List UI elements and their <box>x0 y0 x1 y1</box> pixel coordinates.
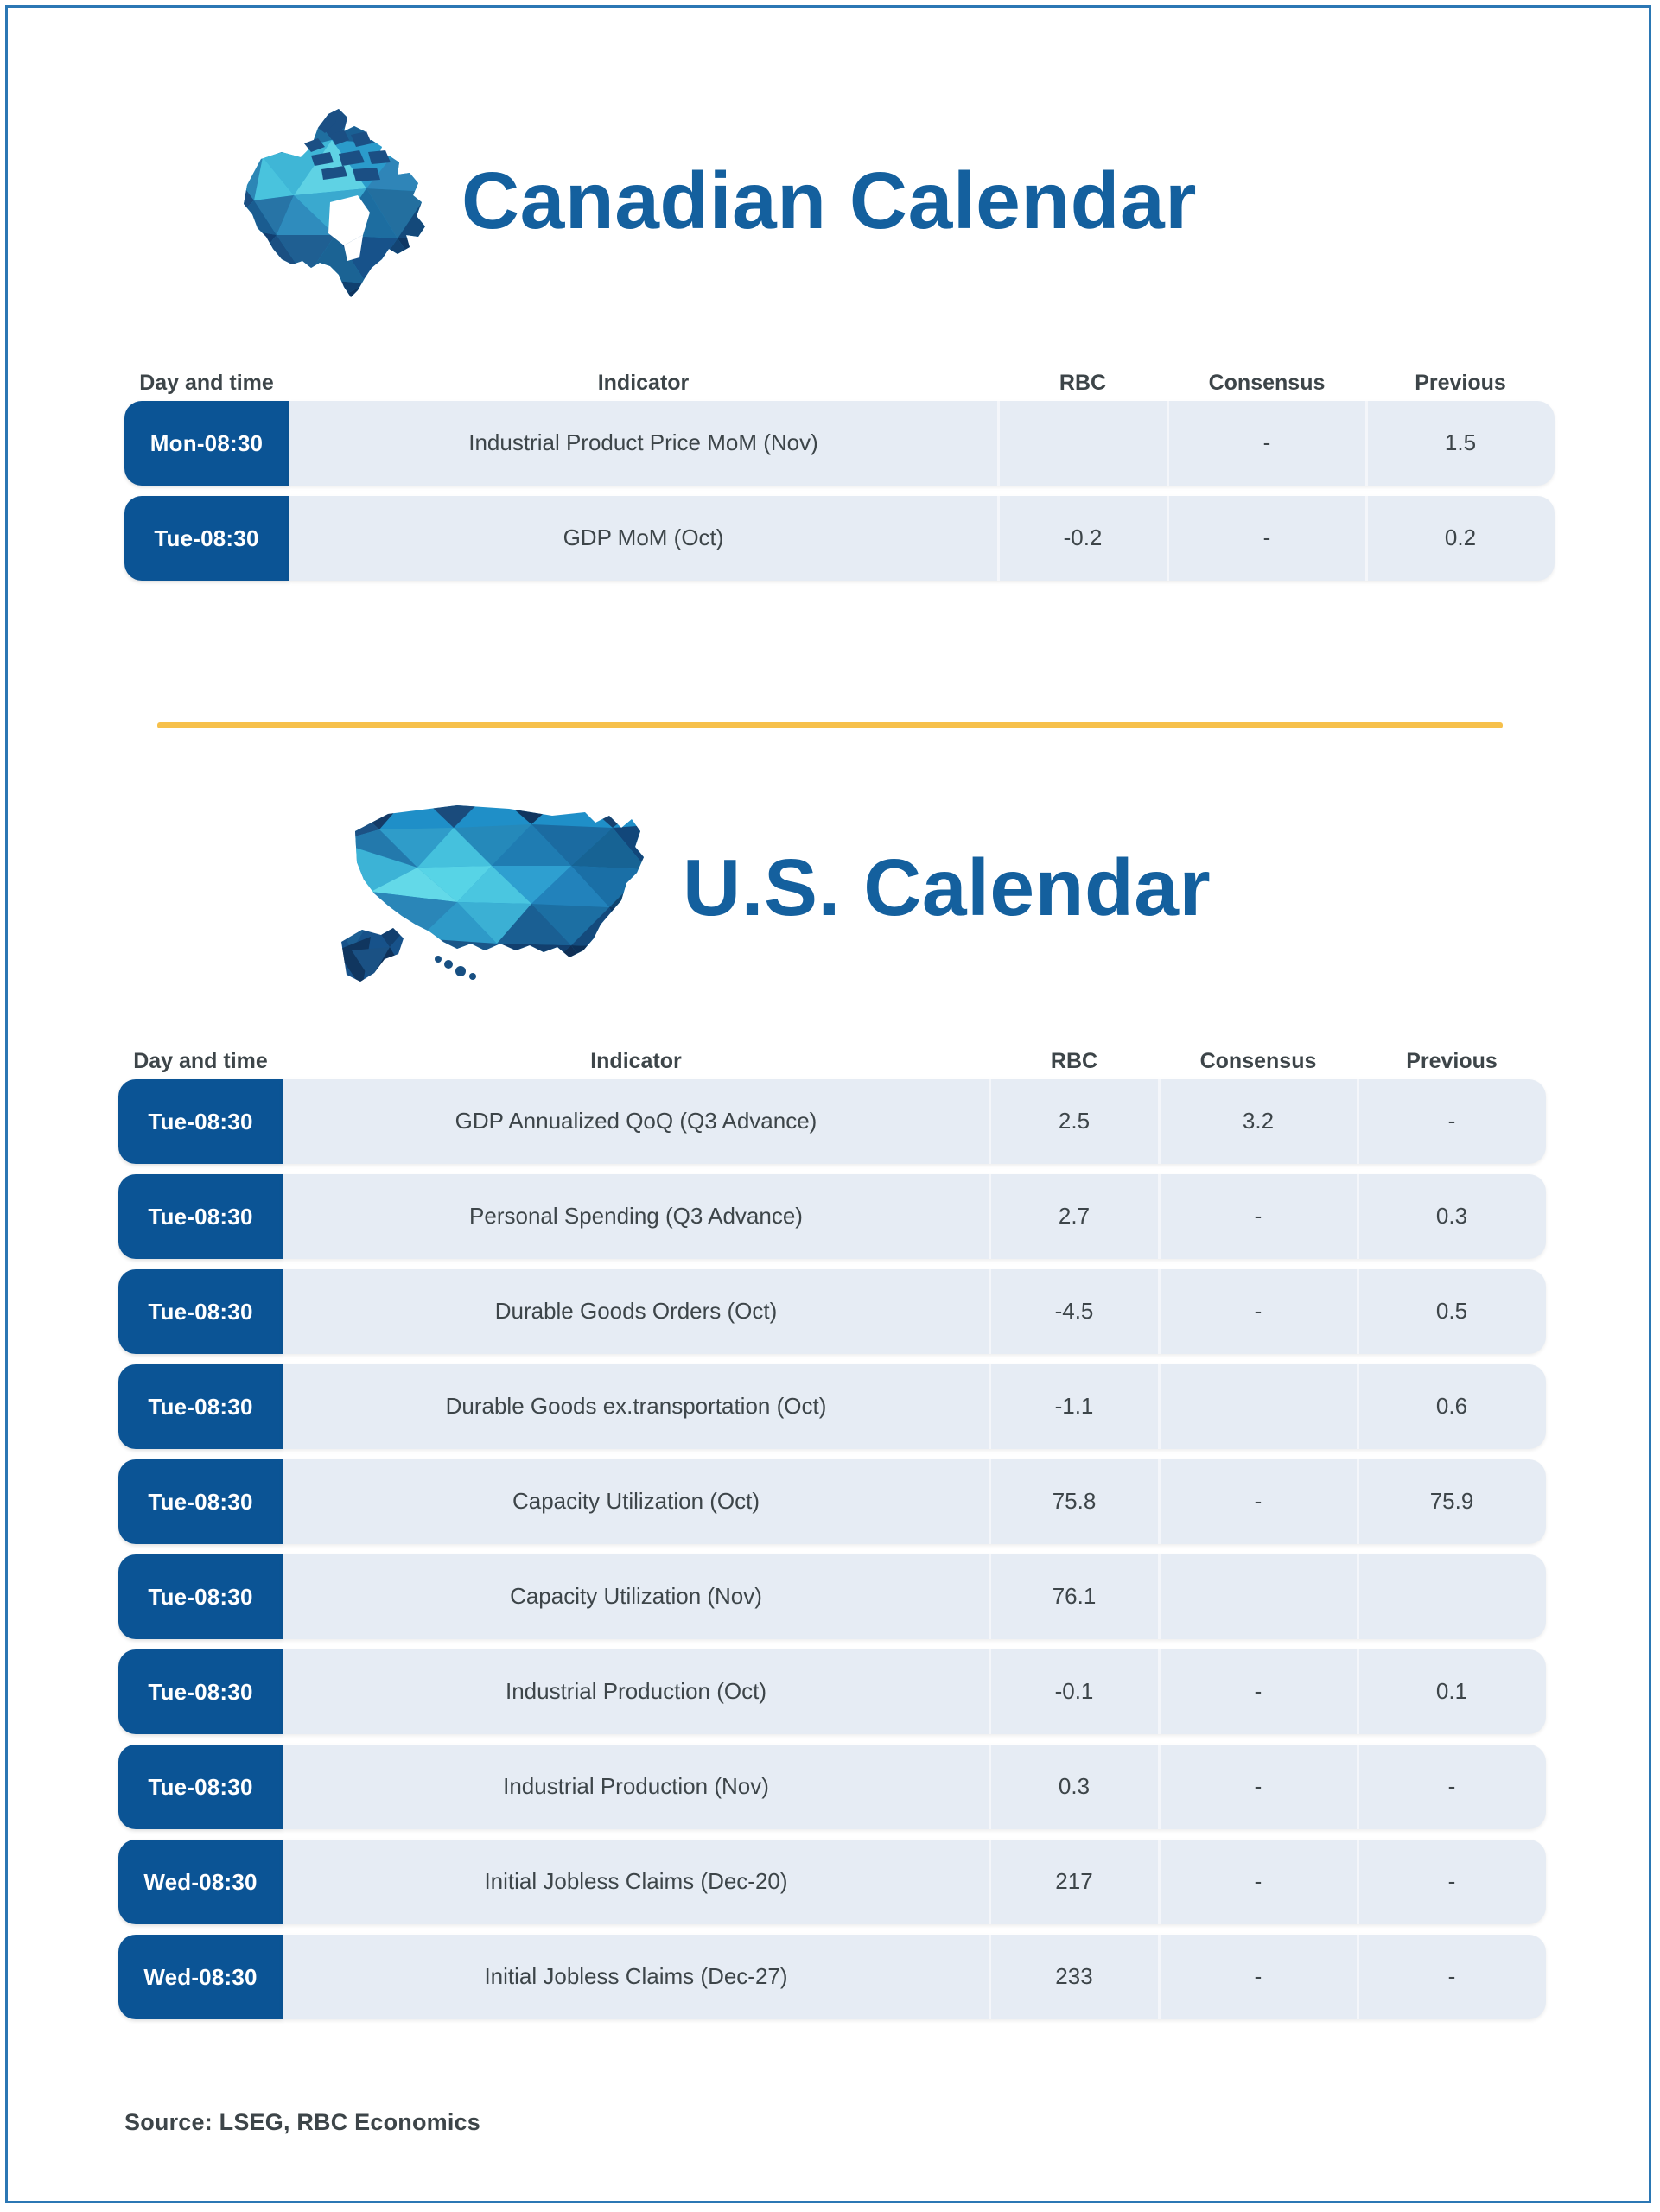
row-values: Initial Jobless Claims (Dec-20)217-- <box>283 1840 1546 1924</box>
cell-indicator: Capacity Utilization (Oct) <box>283 1459 989 1544</box>
canadian-calendar-header: Canadian Calendar <box>228 103 1481 302</box>
cell-rbc: 0.3 <box>989 1745 1159 1829</box>
table-row: Wed-08:30Initial Jobless Claims (Dec-20)… <box>118 1840 1546 1924</box>
cell-previous: - <box>1358 1745 1546 1829</box>
cell-rbc: 217 <box>989 1840 1159 1924</box>
column-header-rbc: RBC <box>989 1051 1159 1072</box>
cell-rbc: -4.5 <box>989 1269 1159 1354</box>
column-header-consensus: Consensus <box>1167 372 1366 394</box>
column-header-indicator: Indicator <box>289 372 998 394</box>
source-note: Source: LSEG, RBC Economics <box>124 2109 480 2136</box>
cell-indicator: Initial Jobless Claims (Dec-20) <box>283 1840 989 1924</box>
cell-previous: 0.6 <box>1358 1364 1546 1449</box>
cell-indicator: Capacity Utilization (Nov) <box>283 1554 989 1639</box>
canadian-calendar-table: Day and time Indicator RBC Consensus Pre… <box>124 349 1555 591</box>
cell-day-time: Tue-08:30 <box>118 1079 283 1164</box>
cell-rbc: 75.8 <box>989 1459 1159 1544</box>
column-header-consensus: Consensus <box>1159 1051 1358 1072</box>
cell-indicator: GDP Annualized QoQ (Q3 Advance) <box>283 1079 989 1164</box>
cell-previous: - <box>1358 1840 1546 1924</box>
cell-consensus: - <box>1159 1649 1358 1734</box>
row-values: Industrial Production (Oct)-0.1-0.1 <box>283 1649 1546 1734</box>
cell-day-time: Tue-08:30 <box>118 1269 283 1354</box>
row-values: Capacity Utilization (Oct)75.8-75.9 <box>283 1459 1546 1544</box>
cell-rbc: 233 <box>989 1935 1159 2019</box>
cell-day-time: Tue-08:30 <box>118 1174 283 1259</box>
cell-consensus: - <box>1159 1935 1358 2019</box>
column-header-previous: Previous <box>1366 372 1555 394</box>
row-values: Personal Spending (Q3 Advance)2.7-0.3 <box>283 1174 1546 1259</box>
cell-indicator: Initial Jobless Claims (Dec-27) <box>283 1935 989 2019</box>
table-row: Tue-08:30Industrial Production (Nov)0.3-… <box>118 1745 1546 1829</box>
cell-consensus: - <box>1159 1174 1358 1259</box>
page-title-canada: Canadian Calendar <box>461 161 1197 245</box>
table-row: Tue-08:30GDP MoM (Oct)-0.2-0.2 <box>124 496 1555 581</box>
column-header-day: Day and time <box>124 372 289 394</box>
row-values: Durable Goods Orders (Oct)-4.5-0.5 <box>283 1269 1546 1354</box>
cell-consensus: 3.2 <box>1159 1079 1358 1164</box>
cell-rbc: -0.1 <box>989 1649 1159 1734</box>
cell-previous: 75.9 <box>1358 1459 1546 1544</box>
cell-indicator: Industrial Production (Oct) <box>283 1649 989 1734</box>
row-values: Industrial Production (Nov)0.3-- <box>283 1745 1546 1829</box>
table-header-row-us: Day and time Indicator RBC Consensus Pre… <box>118 1027 1546 1079</box>
table-row: Tue-08:30Capacity Utilization (Oct)75.8-… <box>118 1459 1546 1544</box>
table-row: Mon-08:30Industrial Product Price MoM (N… <box>124 401 1555 486</box>
cell-rbc: -1.1 <box>989 1364 1159 1449</box>
cell-previous: - <box>1358 1079 1546 1164</box>
table-row: Tue-08:30Personal Spending (Q3 Advance)2… <box>118 1174 1546 1259</box>
table-row: Tue-08:30Durable Goods ex.transportation… <box>118 1364 1546 1449</box>
cell-day-time: Tue-08:30 <box>118 1364 283 1449</box>
cell-day-time: Tue-08:30 <box>124 496 289 581</box>
cell-indicator: Industrial Product Price MoM (Nov) <box>289 401 998 486</box>
cell-consensus: - <box>1167 496 1366 581</box>
table-body-canada: Mon-08:30Industrial Product Price MoM (N… <box>124 401 1555 581</box>
cell-consensus: - <box>1159 1840 1358 1924</box>
cell-previous: 0.3 <box>1358 1174 1546 1259</box>
cell-day-time: Tue-08:30 <box>118 1649 283 1734</box>
cell-day-time: Tue-08:30 <box>118 1554 283 1639</box>
cell-previous: 0.2 <box>1366 496 1555 581</box>
cell-rbc: 2.7 <box>989 1174 1159 1259</box>
usa-map-icon <box>336 790 660 988</box>
us-calendar-header: U.S. Calendar <box>336 790 1503 988</box>
cell-rbc: 2.5 <box>989 1079 1159 1164</box>
cell-day-time: Mon-08:30 <box>124 401 289 486</box>
row-values: Capacity Utilization (Nov)76.1 <box>283 1554 1546 1639</box>
page-frame: Canadian Calendar Day and time Indicator… <box>5 5 1651 2203</box>
table-row: Tue-08:30Capacity Utilization (Nov)76.1 <box>118 1554 1546 1639</box>
us-calendar-table: Day and time Indicator RBC Consensus Pre… <box>118 1027 1546 2030</box>
cell-indicator: GDP MoM (Oct) <box>289 496 998 581</box>
cell-previous: 0.1 <box>1358 1649 1546 1734</box>
cell-consensus: - <box>1167 401 1366 486</box>
cell-consensus: - <box>1159 1459 1358 1544</box>
page-title-us: U.S. Calendar <box>683 848 1211 931</box>
table-row: Wed-08:30Initial Jobless Claims (Dec-27)… <box>118 1935 1546 2019</box>
section-divider <box>157 722 1503 728</box>
cell-consensus <box>1159 1364 1358 1449</box>
column-header-indicator: Indicator <box>283 1051 989 1072</box>
cell-rbc: 76.1 <box>989 1554 1159 1639</box>
cell-rbc <box>998 401 1167 486</box>
table-row: Tue-08:30GDP Annualized QoQ (Q3 Advance)… <box>118 1079 1546 1164</box>
cell-previous: 0.5 <box>1358 1269 1546 1354</box>
row-values: Initial Jobless Claims (Dec-27)233-- <box>283 1935 1546 2019</box>
table-header-row-canada: Day and time Indicator RBC Consensus Pre… <box>124 349 1555 401</box>
cell-rbc: -0.2 <box>998 496 1167 581</box>
cell-day-time: Wed-08:30 <box>118 1935 283 2019</box>
column-header-rbc: RBC <box>998 372 1167 394</box>
cell-previous: 1.5 <box>1366 401 1555 486</box>
cell-day-time: Wed-08:30 <box>118 1840 283 1924</box>
row-values: GDP Annualized QoQ (Q3 Advance)2.53.2- <box>283 1079 1546 1164</box>
table-row: Tue-08:30Industrial Production (Oct)-0.1… <box>118 1649 1546 1734</box>
column-header-day: Day and time <box>118 1051 283 1072</box>
cell-indicator: Durable Goods Orders (Oct) <box>283 1269 989 1354</box>
cell-indicator: Personal Spending (Q3 Advance) <box>283 1174 989 1259</box>
canada-map-icon <box>228 105 436 300</box>
cell-previous <box>1358 1554 1546 1639</box>
cell-day-time: Tue-08:30 <box>118 1745 283 1829</box>
cell-previous: - <box>1358 1935 1546 2019</box>
row-values: Industrial Product Price MoM (Nov)-1.5 <box>289 401 1555 486</box>
row-values: Durable Goods ex.transportation (Oct)-1.… <box>283 1364 1546 1449</box>
cell-indicator: Industrial Production (Nov) <box>283 1745 989 1829</box>
table-body-us: Tue-08:30GDP Annualized QoQ (Q3 Advance)… <box>118 1079 1546 2019</box>
table-row: Tue-08:30Durable Goods Orders (Oct)-4.5-… <box>118 1269 1546 1354</box>
cell-consensus: - <box>1159 1745 1358 1829</box>
cell-consensus <box>1159 1554 1358 1639</box>
cell-day-time: Tue-08:30 <box>118 1459 283 1544</box>
cell-consensus: - <box>1159 1269 1358 1354</box>
column-header-previous: Previous <box>1358 1051 1546 1072</box>
row-values: GDP MoM (Oct)-0.2-0.2 <box>289 496 1555 581</box>
cell-indicator: Durable Goods ex.transportation (Oct) <box>283 1364 989 1449</box>
